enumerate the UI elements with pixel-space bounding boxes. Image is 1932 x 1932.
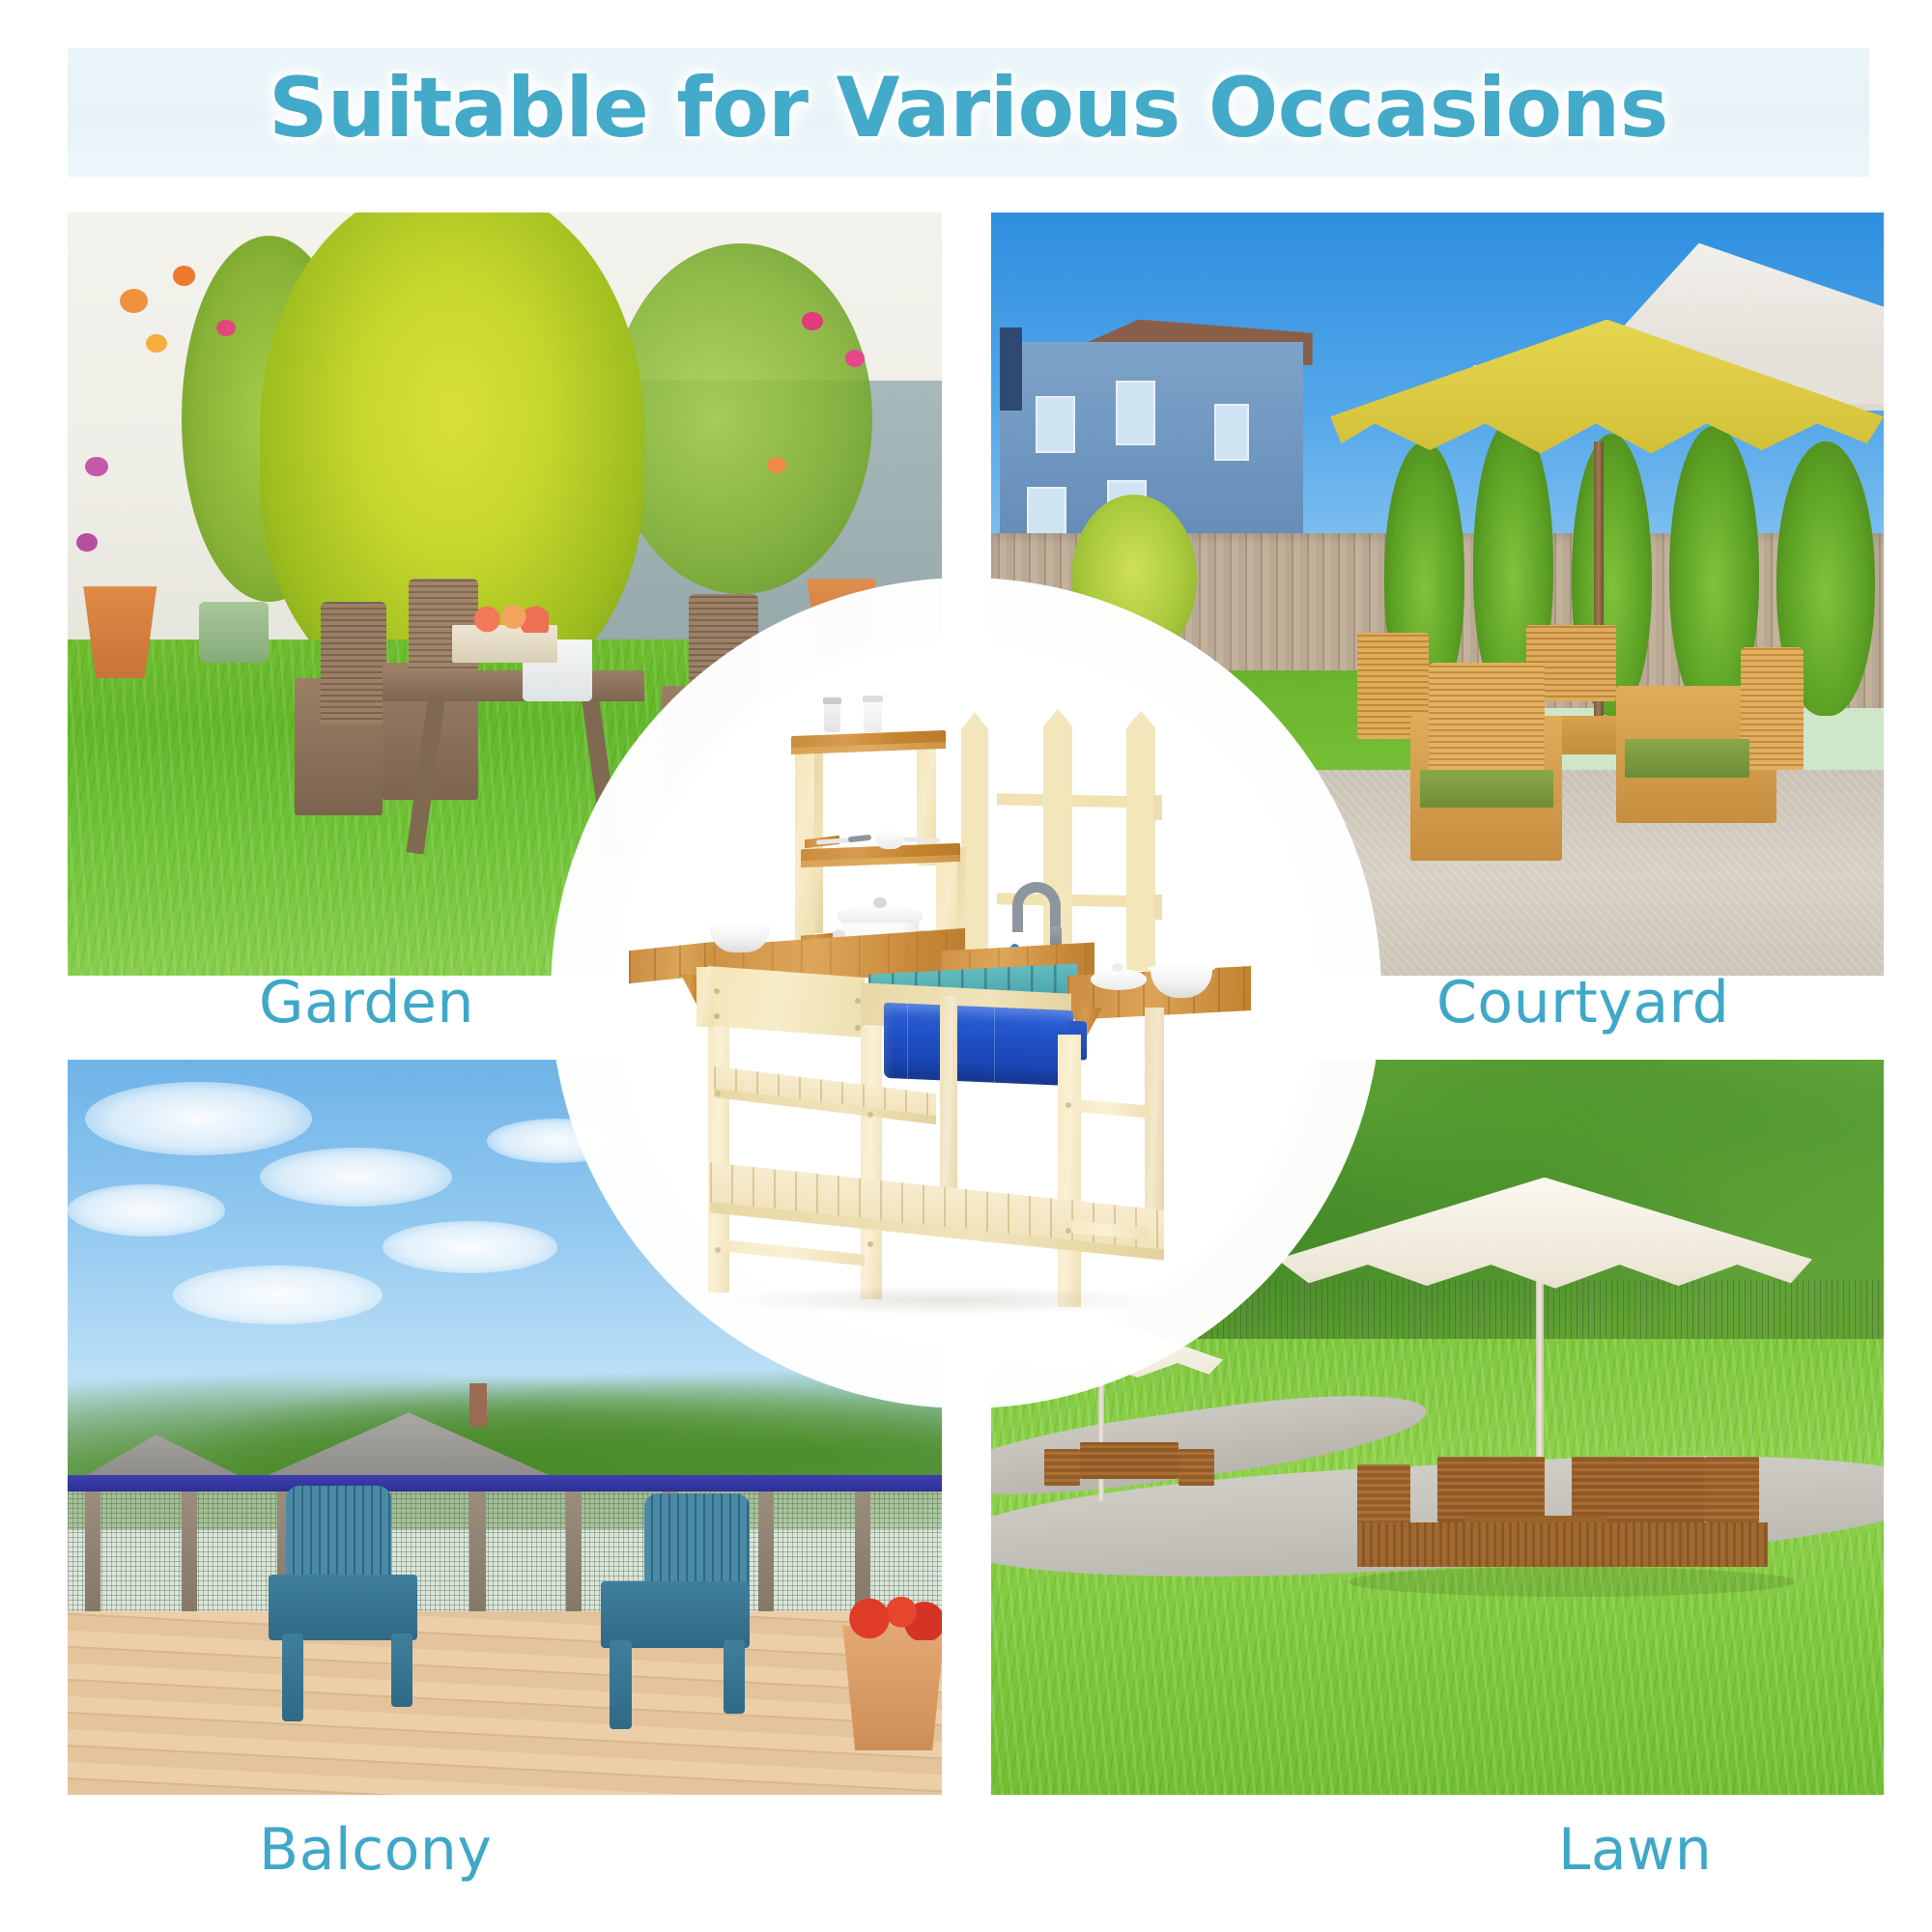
- balcony-adirondack-chair-leg: [282, 1634, 304, 1721]
- balcony-chimney: [469, 1383, 487, 1428]
- leg-front-right: [1058, 1035, 1081, 1307]
- screw: [855, 998, 861, 1004]
- screw: [1065, 1228, 1071, 1234]
- garden-rose-flower: [845, 350, 865, 366]
- lawn-bench: [1437, 1457, 1545, 1522]
- wash-basin-bin: [884, 1003, 1073, 1086]
- garden-watering-can: [199, 602, 269, 663]
- courtyard-chimney: [1000, 327, 1022, 412]
- courtyard-window: [1214, 404, 1249, 461]
- balcony-adirondack-chair-leg: [391, 1634, 413, 1707]
- utensil-whisk: [903, 837, 940, 842]
- garden-rose-flower: [76, 533, 98, 552]
- storage-jar-lid: [823, 697, 841, 704]
- lawn-chair: [1705, 1457, 1758, 1522]
- faucet-spout: [1012, 882, 1061, 932]
- balcony-railing-post: [469, 1486, 485, 1610]
- courtyard-window: [1116, 381, 1155, 445]
- garden-rose-flower: [216, 320, 236, 336]
- garden-rose-flower: [767, 457, 786, 473]
- play-bowl-rim: [1148, 964, 1215, 973]
- storage-jar: [824, 701, 840, 732]
- balcony-cloud: [68, 1184, 225, 1236]
- caption-balcony: Balcony: [259, 1816, 492, 1884]
- balcony-railing-post: [758, 1486, 774, 1610]
- storage-jar: [864, 699, 882, 732]
- play-plate-knob: [1112, 963, 1123, 972]
- screw: [714, 1013, 720, 1019]
- balcony-railing-post: [182, 1486, 197, 1610]
- balcony-railing-post: [566, 1486, 582, 1610]
- screw: [715, 1091, 721, 1096]
- product-shadow: [727, 1286, 1162, 1315]
- garden-rose-flower: [85, 457, 108, 477]
- garden-chair: [321, 602, 386, 724]
- balcony-deck-floor: [68, 1611, 942, 1795]
- balcony-cloud: [85, 1082, 312, 1155]
- balcony-cloud: [487, 1119, 627, 1163]
- leg-mid-back: [940, 996, 957, 1218]
- fence-side-tab: [1153, 795, 1162, 820]
- storage-jar-lid: [863, 696, 883, 702]
- caption-courtyard: Courtyard: [1436, 969, 1729, 1037]
- lawn-umbrella-pole: [1098, 1369, 1104, 1501]
- back-stretcher-right: [1071, 1099, 1149, 1119]
- lawn-seat-row: [1357, 1522, 1768, 1567]
- courtyard-chair-back: [1741, 647, 1804, 769]
- garden-shrub-right: [610, 243, 872, 594]
- play-bowl-small: [876, 828, 903, 849]
- cabinet-front-left: [708, 966, 865, 1037]
- balcony-adirondack-chair: [269, 1575, 417, 1640]
- balcony-adirondack-chair-leg: [610, 1640, 632, 1728]
- caption-lawn: Lawn: [1558, 1816, 1712, 1884]
- cabinet-side-left: [696, 967, 714, 1027]
- courtyard-seat-cushion: [1625, 739, 1749, 778]
- garden-rose-flower: [173, 266, 196, 286]
- play-pot-knob: [873, 897, 887, 908]
- courtyard-small-tree: [1071, 495, 1196, 663]
- screw: [715, 1247, 721, 1253]
- play-plate: [1091, 969, 1147, 990]
- screw: [1065, 1102, 1071, 1108]
- courtyard-seat-cushion: [1420, 770, 1554, 809]
- play-bowl-rim: [707, 923, 773, 931]
- garden-rose-flower: [802, 312, 823, 330]
- screw: [867, 1241, 873, 1247]
- balcony-geraniums: [845, 1597, 942, 1641]
- lawn-chair-far: [1179, 1449, 1214, 1486]
- balcony-adirondack-chair-leg: [724, 1640, 746, 1714]
- garden-planter-flowers: [461, 606, 549, 633]
- screw: [867, 1112, 873, 1118]
- fence-picket: [1126, 727, 1155, 971]
- garden-table-top: [383, 670, 645, 701]
- balcony-railing-post: [85, 1486, 100, 1610]
- page-title: Suitable for Various Occasions: [76, 41, 1860, 176]
- screw: [714, 988, 720, 994]
- lawn-bench: [1572, 1457, 1706, 1522]
- courtyard-window: [1036, 396, 1075, 453]
- utensil-handle: [848, 835, 871, 842]
- balcony-railing-cap: [68, 1475, 942, 1492]
- balcony-railing-post: [855, 1486, 870, 1610]
- fence-side-tab: [1153, 895, 1162, 920]
- caption-garden: Garden: [259, 969, 474, 1037]
- balcony-cloud: [173, 1265, 383, 1324]
- courtyard-chair-back: [1429, 663, 1545, 770]
- occasions-infographic: Suitable for Various Occasions: [0, 0, 1932, 1932]
- lawn-bench-far: [1080, 1442, 1179, 1479]
- side-stretcher-left: [724, 1239, 865, 1265]
- balcony-cloud: [260, 1148, 452, 1207]
- balcony-adirondack-chair: [601, 1581, 750, 1647]
- lawn-chair-far: [1044, 1449, 1080, 1486]
- balcony-railing-mesh: [68, 1490, 942, 1614]
- balcony-cloud: [383, 1221, 557, 1272]
- product-mud-kitchen: [621, 648, 1311, 1338]
- lawn-shadow: [1349, 1567, 1795, 1596]
